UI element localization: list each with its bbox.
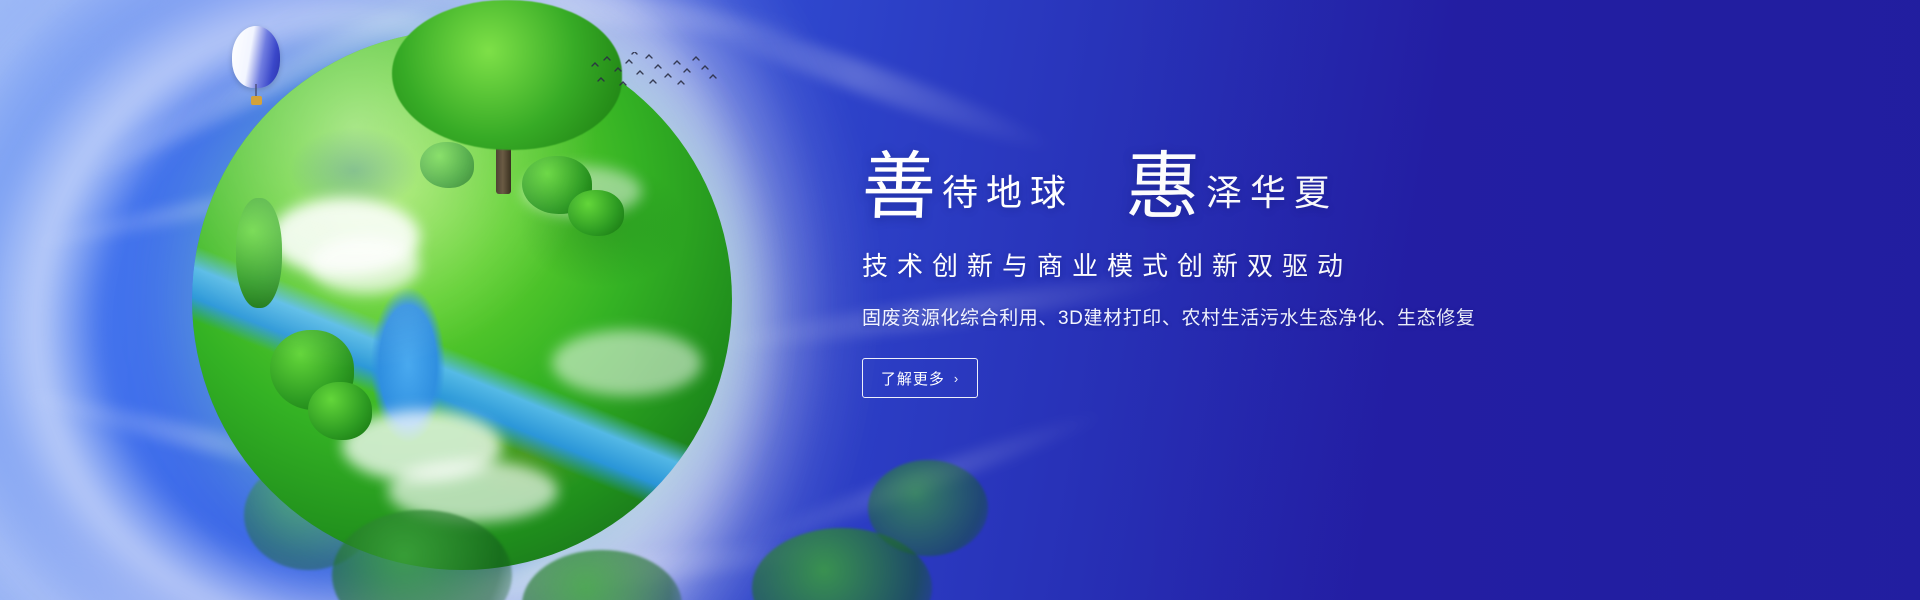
tree-icon — [568, 190, 624, 236]
headline-rest-1: 待地球 — [936, 176, 1074, 212]
tree-icon — [308, 382, 372, 440]
tree-silhouette — [868, 460, 988, 556]
hot-air-balloon-icon — [232, 26, 280, 108]
cloud-icon — [310, 236, 420, 294]
headline-big-char-2: 惠 — [1125, 156, 1201, 220]
chevron-right-icon: › — [954, 372, 959, 385]
learn-more-label: 了解更多 — [881, 368, 945, 389]
bird-flock-icon — [588, 52, 718, 92]
globe-illustration — [192, 30, 732, 570]
headline-rest-2: 泽华夏 — [1200, 176, 1338, 212]
learn-more-button[interactable]: 了解更多 › — [862, 358, 978, 398]
headline-big-char-1: 善 — [861, 156, 937, 220]
hero-text-block: 善 待地球 惠 泽华夏 技术创新与商业模式创新双驱动 固废资源化综合利用、3D建… — [862, 140, 1662, 398]
tree-silhouette — [522, 550, 682, 600]
hero-description: 固废资源化综合利用、3D建材打印、农村生活污水生态净化、生态修复 — [862, 303, 1662, 330]
balloon-basket — [251, 96, 262, 105]
page-title: 善 待地球 惠 泽华夏 — [862, 140, 1662, 220]
cloud-icon — [552, 330, 702, 396]
balloon-envelope — [232, 26, 280, 88]
hero-banner: 善 待地球 惠 泽华夏 技术创新与商业模式创新双驱动 固废资源化综合利用、3D建… — [0, 0, 1920, 600]
hero-subtitle: 技术创新与商业模式创新双驱动 — [862, 246, 1662, 283]
tree-icon — [236, 198, 282, 308]
